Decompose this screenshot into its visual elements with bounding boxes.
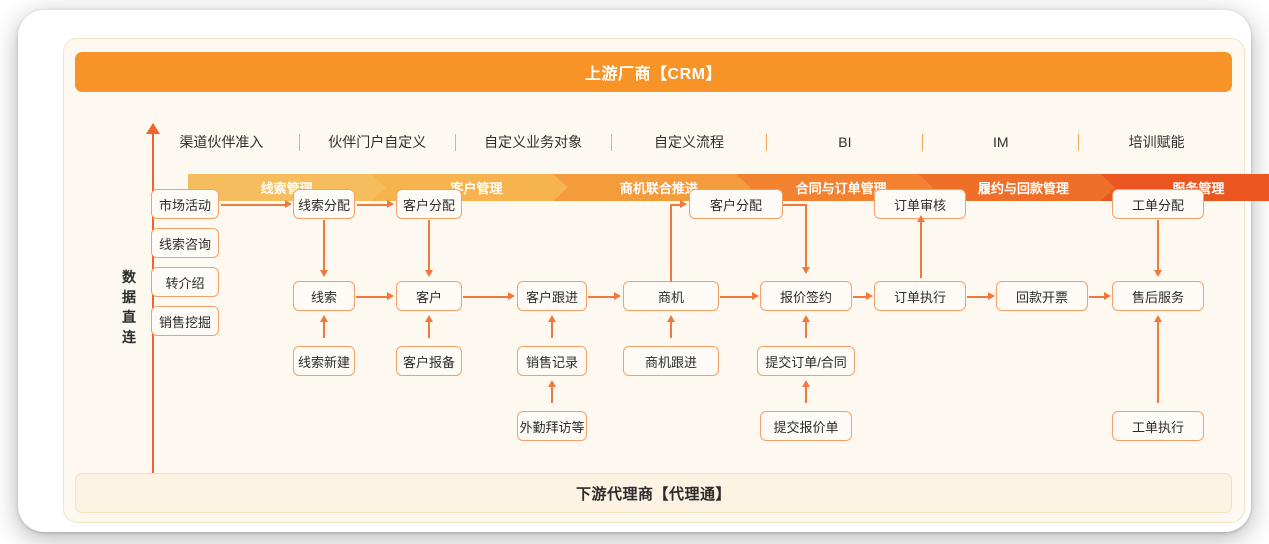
connector-line — [720, 296, 752, 298]
data-link-label: 数 据 直 连 — [118, 267, 140, 347]
arrowhead-d-icon — [802, 267, 810, 274]
capability-nav: 渠道伙伴准入伙伴门户自定义自定义业务对象自定义流程BIIM培训赋能 — [144, 127, 1234, 157]
flow-node[interactable]: 工单执行 — [1112, 411, 1204, 441]
flow-node[interactable]: 提交报价单 — [760, 411, 852, 441]
flow-node[interactable]: 客户报备 — [396, 346, 462, 376]
capability-item[interactable]: BI — [767, 134, 922, 150]
connector-line — [783, 204, 806, 206]
data-link-arrow-up-icon — [146, 123, 160, 134]
arrowhead-r-icon — [387, 292, 394, 300]
arrowhead-r-icon — [614, 292, 621, 300]
flow-node[interactable]: 工单分配 — [1112, 189, 1204, 219]
connector-line — [1157, 220, 1159, 270]
stage-label: 商机联合推进 — [620, 178, 698, 197]
connector-line — [967, 296, 988, 298]
connector-line — [853, 296, 866, 298]
connector-line — [1089, 296, 1104, 298]
connector-line-opportunity-to-alloc — [670, 204, 672, 282]
connector-line — [221, 204, 285, 206]
capability-item[interactable]: 培训赋能 — [1079, 132, 1234, 152]
arrowhead-r-icon — [508, 292, 515, 300]
arrowhead-r-icon — [387, 200, 394, 208]
connector-line — [428, 322, 430, 338]
flow-node[interactable]: 线索分配 — [293, 189, 355, 219]
connector-line — [357, 204, 387, 206]
downstream-agent-footer: 下游代理商【代理通】 — [75, 473, 1232, 513]
stage-label: 履约与回款管理 — [978, 178, 1069, 197]
arrowhead-u-icon — [548, 315, 556, 322]
connector-line — [551, 322, 553, 338]
arrowhead-u-icon — [548, 380, 556, 387]
connector-line — [805, 322, 807, 338]
capability-item[interactable]: 渠道伙伴准入 — [144, 132, 299, 152]
connector-line — [920, 222, 922, 278]
flow-node[interactable]: 提交订单/合同 — [757, 346, 855, 376]
arrowhead-r-icon — [680, 200, 687, 208]
flow-node[interactable]: 售后服务 — [1112, 281, 1204, 311]
connector-line — [463, 296, 508, 298]
arrowhead-d-icon — [320, 270, 328, 277]
capability-item[interactable]: 自定义业务对象 — [456, 132, 611, 152]
flow-node[interactable]: 商机跟进 — [623, 346, 719, 376]
flow-node[interactable]: 线索 — [293, 281, 355, 311]
connector-line — [670, 204, 680, 206]
flow-node[interactable]: 线索咨询 — [151, 228, 219, 258]
arrowhead-r-icon — [752, 292, 759, 300]
flow-node[interactable]: 商机 — [623, 281, 719, 311]
flow-node[interactable]: 销售挖掘 — [151, 306, 219, 336]
flow-node[interactable]: 客户分配 — [396, 189, 462, 219]
arrowhead-r-icon — [988, 292, 995, 300]
connector-line — [805, 204, 807, 267]
diagram-canvas: 上游厂商【CRM】 渠道伙伴准入伙伴门户自定义自定义业务对象自定义流程BIIM培… — [0, 0, 1269, 544]
flow-node[interactable]: 转介绍 — [151, 267, 219, 297]
arrowhead-u-icon — [320, 315, 328, 322]
connector-line — [323, 220, 325, 270]
footer-title: 下游代理商【代理通】 — [576, 483, 731, 504]
arrowhead-u-icon — [667, 315, 675, 322]
connector-line — [588, 296, 614, 298]
flow-node[interactable]: 报价签约 — [760, 281, 852, 311]
arrowhead-r-icon — [1104, 292, 1111, 300]
flow-node[interactable]: 客户 — [396, 281, 462, 311]
diagram-panel: 上游厂商【CRM】 渠道伙伴准入伙伴门户自定义自定义业务对象自定义流程BIIM培… — [63, 38, 1245, 523]
flow-node[interactable]: 客户分配 — [689, 189, 783, 219]
arrowhead-d-icon — [425, 270, 433, 277]
connector-line — [356, 296, 387, 298]
capability-item[interactable]: 伙伴门户自定义 — [300, 132, 455, 152]
arrowhead-u-icon — [802, 315, 810, 322]
connector-line — [670, 322, 672, 338]
flow-node[interactable]: 市场活动 — [151, 189, 219, 219]
outer-card: 上游厂商【CRM】 渠道伙伴准入伙伴门户自定义自定义业务对象自定义流程BIIM培… — [18, 10, 1251, 532]
arrowhead-d-icon — [1154, 270, 1162, 277]
connector-line — [551, 387, 553, 403]
flow-node[interactable]: 销售记录 — [517, 346, 587, 376]
arrowhead-u-icon — [1154, 315, 1162, 322]
flow-node[interactable]: 订单执行 — [874, 281, 966, 311]
arrowhead-r-icon — [866, 292, 873, 300]
connector-line — [1157, 322, 1159, 403]
connector-line — [805, 387, 807, 403]
connector-line — [428, 220, 430, 270]
flow-node[interactable]: 回款开票 — [996, 281, 1088, 311]
capability-item[interactable]: 自定义流程 — [612, 132, 767, 152]
arrowhead-r-icon — [285, 200, 292, 208]
upstream-vendor-header: 上游厂商【CRM】 — [75, 52, 1232, 92]
flow-node[interactable]: 客户跟进 — [517, 281, 587, 311]
connector-line — [323, 322, 325, 338]
flow-node[interactable]: 线索新建 — [293, 346, 355, 376]
arrowhead-u-icon — [917, 215, 925, 222]
capability-item[interactable]: IM — [923, 134, 1078, 150]
header-title: 上游厂商【CRM】 — [585, 60, 722, 84]
arrowhead-u-icon — [425, 315, 433, 322]
arrowhead-u-icon — [802, 380, 810, 387]
flow-node[interactable]: 外勤拜访等 — [517, 411, 587, 441]
